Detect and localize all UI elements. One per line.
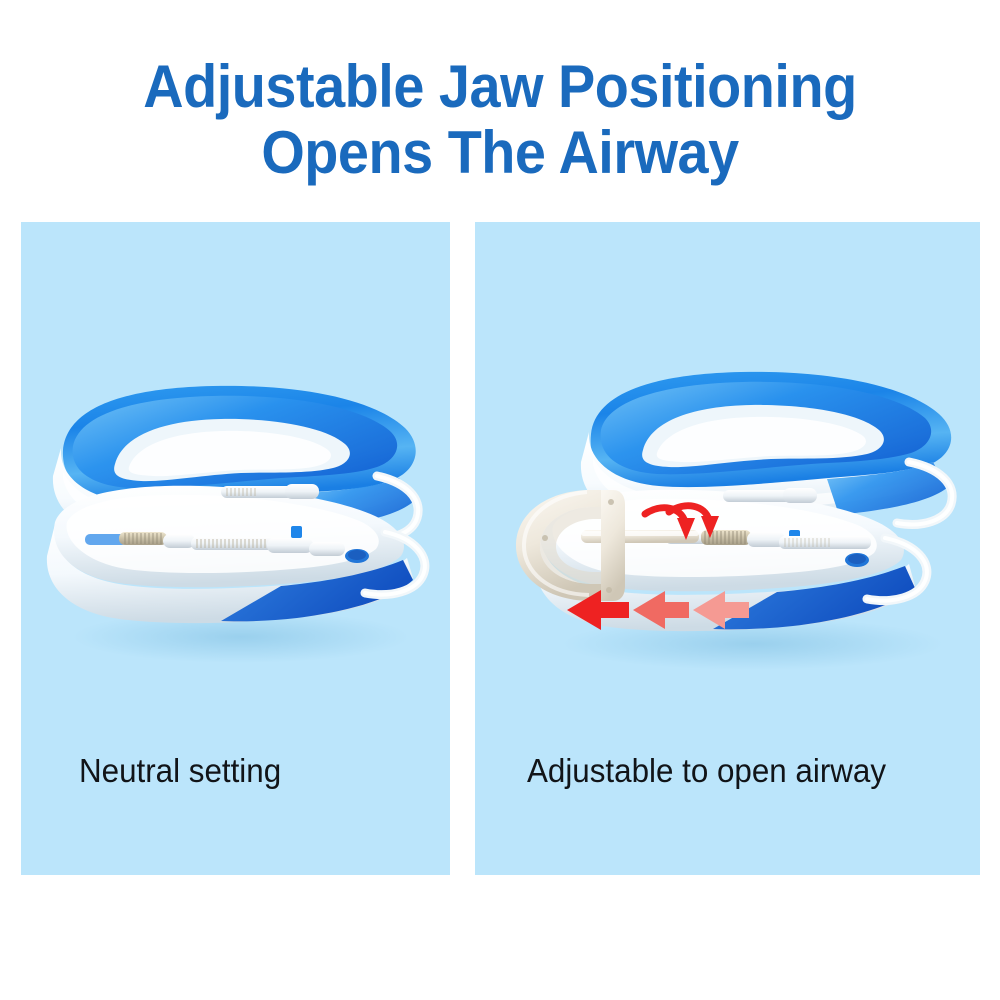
panel-neutral: Neutral setting <box>21 222 450 875</box>
caption-adjusted: Adjustable to open airway <box>527 752 886 790</box>
page-title: Adjustable Jaw Positioning Opens The Air… <box>35 54 965 186</box>
comparison-panels: Neutral setting <box>21 222 980 875</box>
caption-neutral: Neutral setting <box>79 752 281 790</box>
advance-arrow-group <box>567 590 749 630</box>
page-title-line-1: Adjustable Jaw Positioning <box>35 54 965 120</box>
anti-snoring-mouthpiece-neutral <box>45 372 445 672</box>
panel-adjusted: Adjustable to open airway <box>475 222 980 875</box>
blue-marker <box>291 526 302 538</box>
page-title-line-2: Opens The Airway <box>35 120 965 186</box>
anti-snoring-mouthpiece-adjusted <box>483 362 980 682</box>
infographic-root: Adjustable Jaw Positioning Opens The Air… <box>0 0 1000 1000</box>
